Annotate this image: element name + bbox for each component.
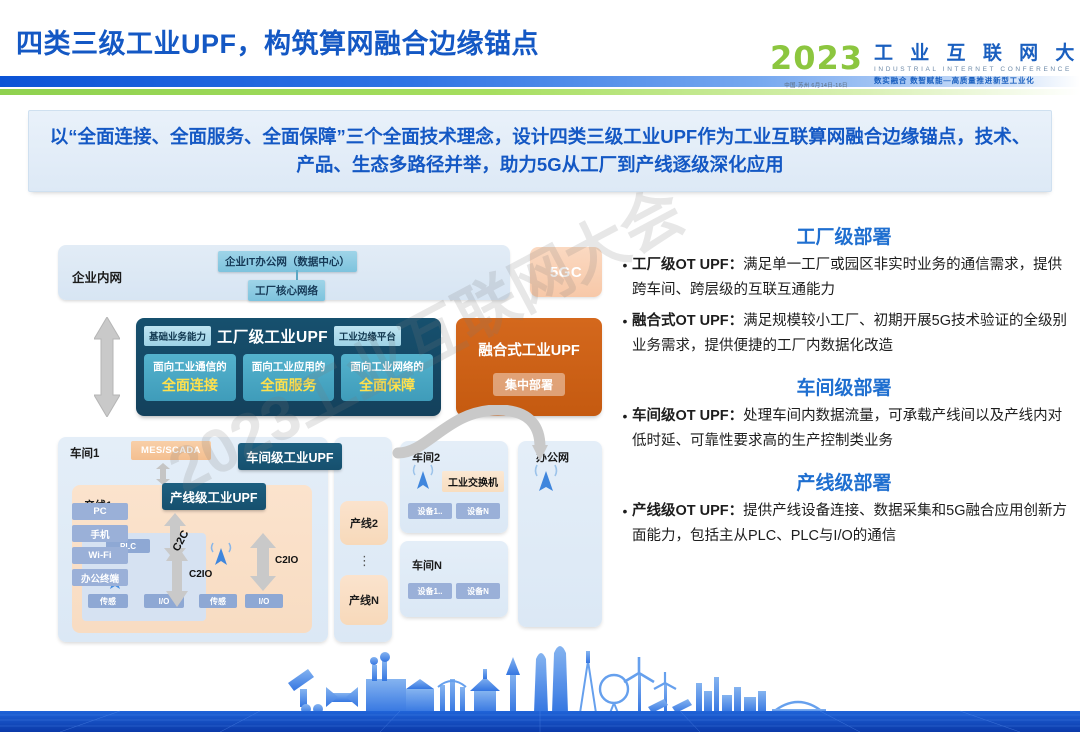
workshopN-title: 车间N — [412, 557, 442, 573]
capability-column: 面向工业通信的 全面连接 — [144, 354, 236, 401]
list-item: • 工厂级OT UPF：满足单一工厂或园区非实时业务的通信需求，提供跨车间、跨层… — [618, 253, 1070, 303]
logo-name-block: 工 业 互 联 网 大 会 INDUSTRIAL INTERNET CONFER… — [874, 42, 1080, 86]
list-item: • 融合式OT UPF：满足规模较小工厂、初期开展5G技术验证的全级别业务需求，… — [618, 309, 1070, 359]
conference-logo: 2023 中国·苏州 6月14日-16日 工 业 互 联 网 大 会 INDUS… — [770, 42, 1070, 98]
it-office-net-tag: 企业IT办公网（数据中心） — [218, 251, 357, 272]
deployment-descriptions: 工厂级部署 • 工厂级OT UPF：满足单一工厂或园区非实时业务的通信需求，提供… — [618, 222, 1070, 555]
architecture-diagram: 企业内网 企业IT办公网（数据中心） 工厂核心网络 5GC 基础业务能力 工厂级… — [58, 245, 603, 645]
factory-core-net-tag: 工厂核心网络 — [248, 280, 325, 301]
antenna-icon — [530, 463, 562, 498]
antenna-icon — [206, 541, 236, 572]
workshopN-panel — [400, 541, 508, 617]
line-level-upf-tag: 产线级工业UPF — [162, 483, 266, 510]
outer-c2io-arrow-icon — [250, 533, 276, 596]
capability-caption: 面向工业通信的 — [146, 359, 234, 374]
logo-year: 2023 — [770, 42, 862, 74]
bullet-dot: • — [618, 309, 632, 359]
ellipsis-indicator: ⋮ — [358, 557, 370, 565]
bullet-dot: • — [618, 404, 632, 454]
bullet-term: 车间级OT UPF： — [632, 408, 743, 424]
capability-column: 面向工业应用的 全面服务 — [243, 354, 335, 401]
fusion-upf-chip: 集中部署 — [493, 373, 565, 396]
capability-caption: 面向工业网络的 — [343, 359, 431, 374]
bullet-dot: • — [618, 499, 632, 549]
key-message-text: 以“全面连接、全面服务、全面保障”三个全面技术理念，设计四类三级工业UPF作为工… — [49, 123, 1031, 179]
5gc-block: 5GC — [530, 247, 602, 297]
production-lineN-chip: 产线N — [340, 575, 388, 625]
outer-io-tag: I/O — [245, 594, 283, 608]
page-title: 四类三级工业UPF，构筑算网融合边缘锚点 — [16, 22, 539, 61]
office-item-terminal: 办公终端 — [72, 569, 128, 586]
office-item-wifi: Wi-Fi — [72, 547, 128, 564]
device-tag: 设备1.. — [408, 583, 452, 599]
device-tag: 设备1.. — [408, 503, 452, 519]
bullet-term: 产线级OT UPF： — [632, 503, 743, 519]
factory-level-upf-panel: 基础业务能力 工厂级工业UPF 工业边缘平台 面向工业通信的 全面连接 面向工业… — [136, 318, 441, 416]
outer-c2io-label: C2IO — [275, 555, 298, 566]
capability-name: 全面保障 — [343, 375, 431, 395]
key-message-banner: 以“全面连接、全面服务、全面保障”三个全面技术理念，设计四类三级工业UPF作为工… — [28, 110, 1052, 192]
logo-slogan: 数实融合 数智赋能—高质量推进新型工业化 — [874, 75, 1080, 86]
basic-capability-chip: 基础业务能力 — [144, 326, 211, 346]
section-heading-workshop: 车间级部署 — [618, 373, 1070, 400]
sensor-tag: 传感 — [88, 594, 128, 608]
mes-scada-tag: MES/SCADA — [131, 441, 211, 460]
footer-skyline — [0, 627, 1080, 732]
slide-root: 四类三级工业UPF，构筑算网融合边缘锚点 2023 中国·苏州 6月14日-16… — [0, 0, 1080, 732]
section-heading-line: 产线级部署 — [618, 468, 1070, 495]
capability-caption: 面向工业应用的 — [245, 359, 333, 374]
production-line2-chip: 产线2 — [340, 501, 388, 545]
bullet-dot: • — [618, 253, 632, 303]
workshop-level-upf-tag: 车间级工业UPF — [238, 443, 342, 470]
antenna-icon — [408, 463, 438, 496]
factory-upf-title: 工厂级工业UPF — [217, 325, 328, 347]
bullet-text: 产线级OT UPF：提供产线设备连接、数据采集和5G融合应用创新方面能力，包括主… — [632, 499, 1070, 549]
bullet-term: 工厂级OT UPF： — [632, 257, 743, 273]
section-heading-factory: 工厂级部署 — [618, 222, 1070, 249]
bullet-text: 工厂级OT UPF：满足单一工厂或园区非实时业务的通信需求，提供跨车间、跨层级的… — [632, 253, 1070, 303]
edge-platform-chip: 工业边缘平台 — [334, 326, 401, 346]
bullet-term: 融合式OT UPF： — [632, 313, 743, 329]
logo-date: 中国·苏州 6月14日-16日 — [770, 81, 862, 89]
logo-name-cn: 工 业 互 联 网 大 会 — [874, 44, 1080, 64]
office-item-phone: 手机 — [72, 525, 128, 542]
bullet-text: 融合式OT UPF：满足规模较小工厂、初期开展5G技术验证的全级别业务需求，提供… — [632, 309, 1070, 359]
office-item-pc: PC — [72, 503, 128, 520]
workshop1-title: 车间1 — [70, 445, 99, 461]
logo-year-block: 2023 中国·苏州 6月14日-16日 — [770, 42, 862, 89]
device-tag: 设备N — [456, 583, 500, 599]
list-item: • 车间级OT UPF：处理车间内数据流量，可承载产线间以及产线内对低时延、可靠… — [618, 404, 1070, 454]
vertical-double-arrow-icon — [94, 317, 120, 417]
device-tag: 设备N — [456, 503, 500, 519]
capability-column: 面向工业网络的 全面保障 — [341, 354, 433, 401]
factory-upf-columns: 面向工业通信的 全面连接 面向工业应用的 全面服务 面向工业网络的 全面保障 — [144, 354, 433, 401]
factory-upf-header: 基础业务能力 工厂级工业UPF 工业边缘平台 — [144, 325, 433, 347]
fusion-upf-panel: 融合式工业UPF 集中部署 — [456, 318, 602, 416]
fusion-upf-title: 融合式工业UPF — [478, 339, 580, 360]
industrial-switch-tag: 工业交换机 — [442, 471, 504, 492]
logo-name-en: INDUSTRIAL INTERNET CONFERENCE — [874, 66, 1080, 73]
list-item: • 产线级OT UPF：提供产线设备连接、数据采集和5G融合应用创新方面能力，包… — [618, 499, 1070, 549]
capability-name: 全面连接 — [146, 375, 234, 395]
outer-sensor-tag: 传感 — [199, 594, 237, 608]
bullet-text: 车间级OT UPF：处理车间内数据流量，可承载产线间以及产线内对低时延、可靠性要… — [632, 404, 1070, 454]
capability-name: 全面服务 — [245, 375, 333, 395]
enterprise-intranet-label: 企业内网 — [72, 267, 122, 286]
